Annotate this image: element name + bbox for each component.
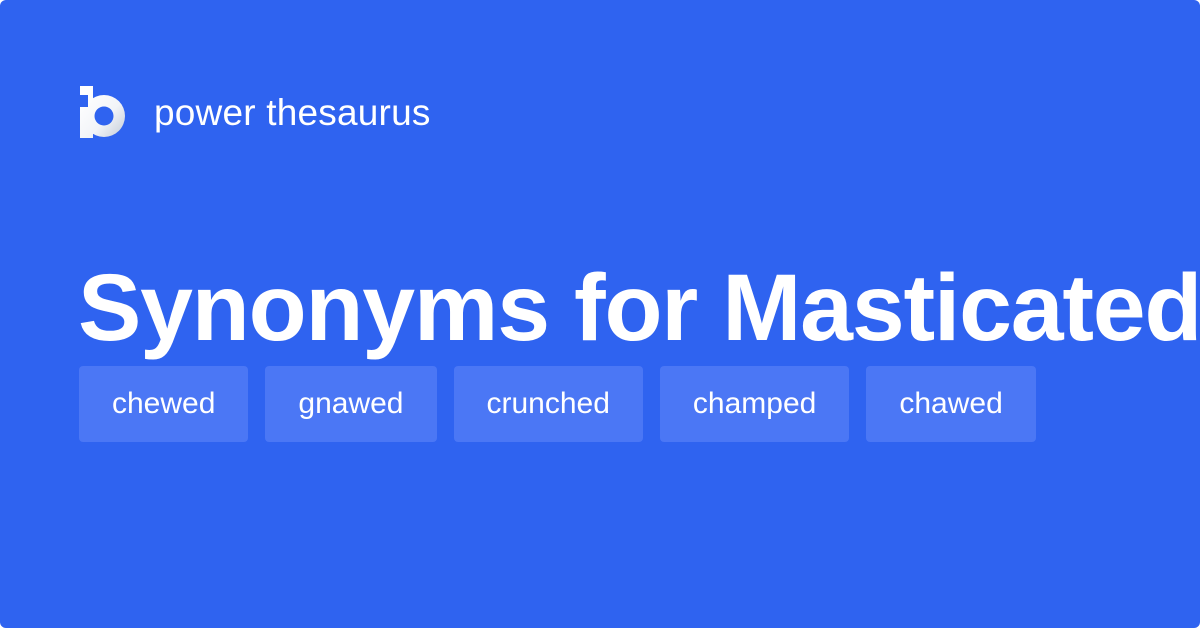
synonym-chip[interactable]: champed <box>660 366 849 442</box>
share-card: power thesaurus Synonyms for Masticated … <box>0 0 1200 628</box>
synonym-list: chewed gnawed crunched champed chawed <box>79 366 1129 442</box>
brand-name: power thesaurus <box>154 94 431 131</box>
synonym-chip[interactable]: gnawed <box>265 366 436 442</box>
brand-logo[interactable]: power thesaurus <box>80 84 431 140</box>
power-thesaurus-b-logo-icon <box>80 86 126 138</box>
page-title: Synonyms for Masticated <box>78 260 1138 356</box>
synonym-chip[interactable]: chawed <box>866 366 1035 442</box>
synonym-chip[interactable]: crunched <box>454 366 643 442</box>
synonym-chip[interactable]: chewed <box>79 366 248 442</box>
